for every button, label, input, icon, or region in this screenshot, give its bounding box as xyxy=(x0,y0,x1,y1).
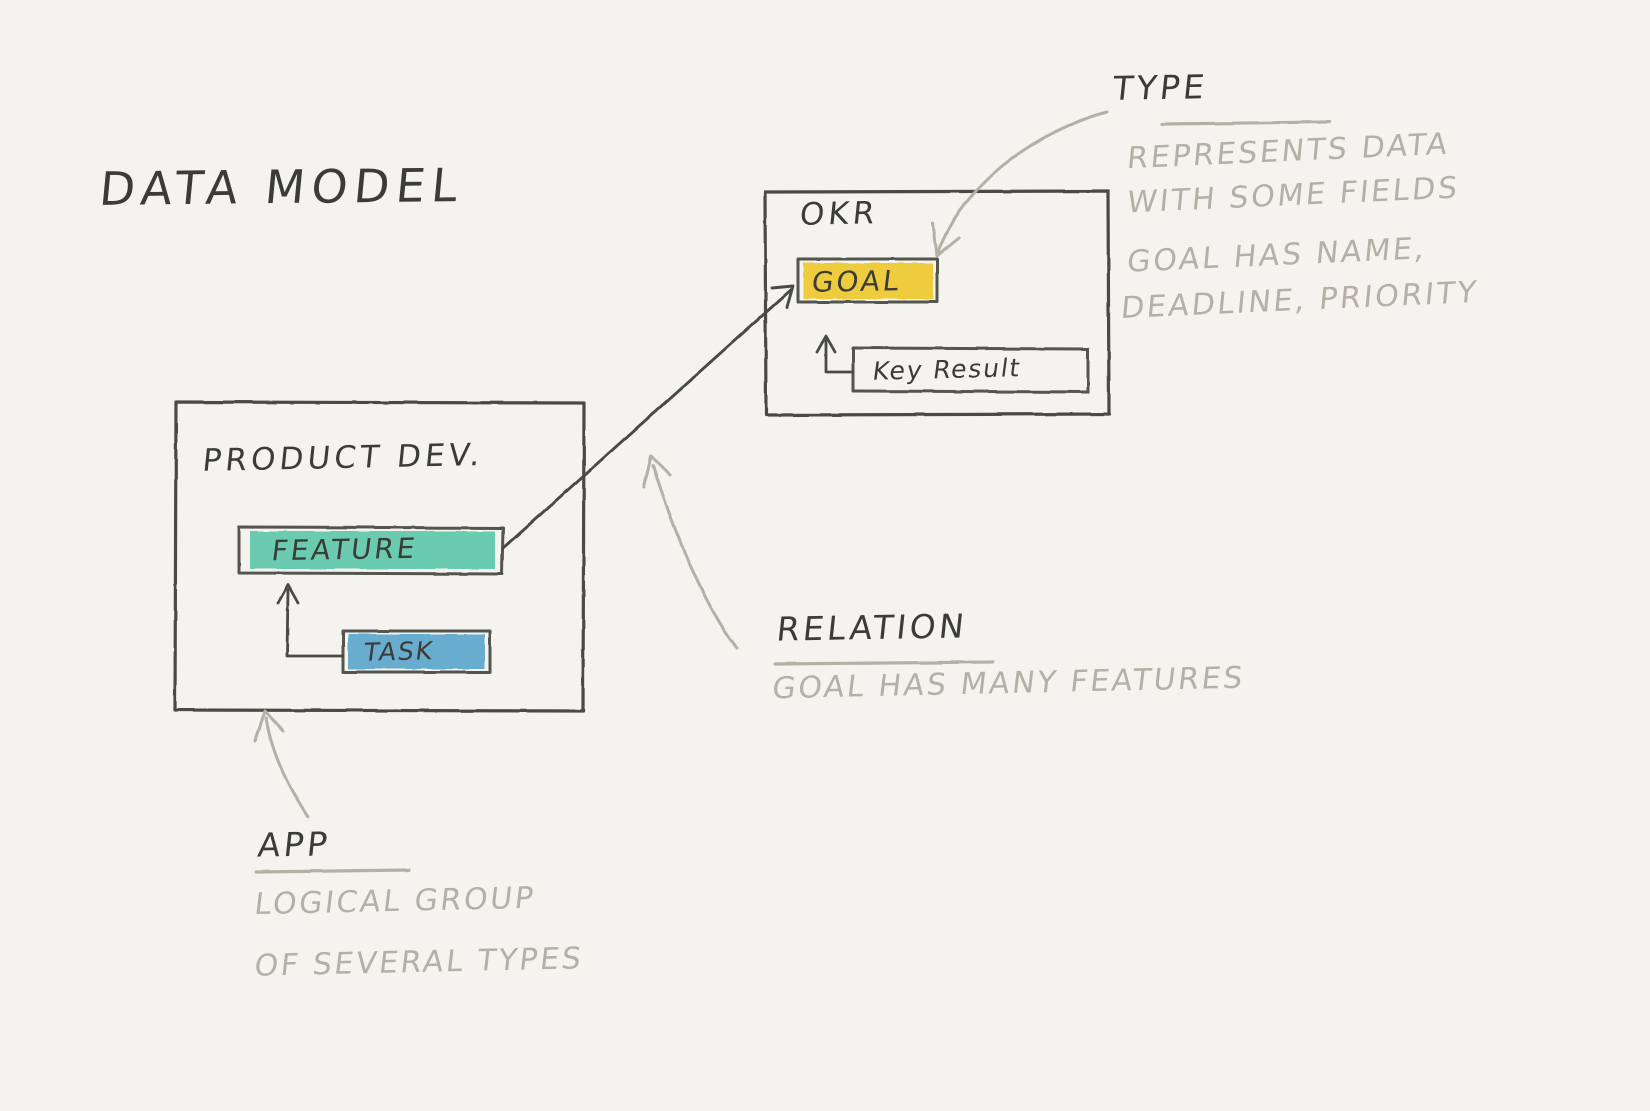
type-node-boxes xyxy=(239,259,1088,672)
highlight-strokes xyxy=(250,263,933,669)
app-boxes xyxy=(175,191,1109,711)
type-box-key-result[interactable] xyxy=(853,348,1088,392)
underline-relation xyxy=(775,662,993,664)
diagram-canvas: DATA MODEL OKR GOAL Key Result PRODUCT D… xyxy=(0,0,1650,1111)
sketch-layer xyxy=(0,0,1650,1111)
arrow-feature-to-goal xyxy=(503,286,793,548)
annotation-underlines xyxy=(256,122,1330,872)
leader-type xyxy=(938,112,1107,252)
goal-highlight xyxy=(803,263,933,299)
leader-relation xyxy=(653,465,737,648)
task-highlight xyxy=(348,634,485,669)
leader-app xyxy=(266,718,308,817)
feature-highlight xyxy=(250,531,495,569)
underline-type xyxy=(1162,122,1330,124)
underline-app xyxy=(256,870,409,872)
